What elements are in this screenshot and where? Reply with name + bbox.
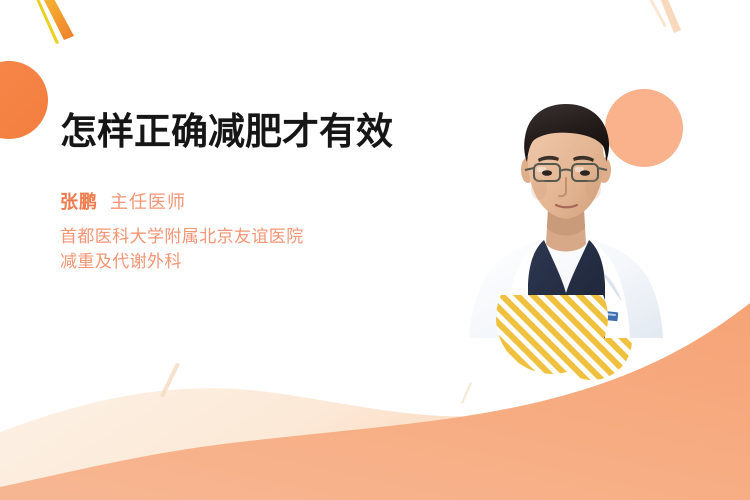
foreground-decor-layer [0, 0, 750, 500]
doctor-intro-card: 怎样正确减肥才有效 张鹏主任医师 首都医科大学附属北京友谊医院 减重及代谢外科 [0, 0, 750, 500]
yellow-striped-circle [496, 262, 608, 374]
striped-circle-overlay [0, 0, 750, 500]
